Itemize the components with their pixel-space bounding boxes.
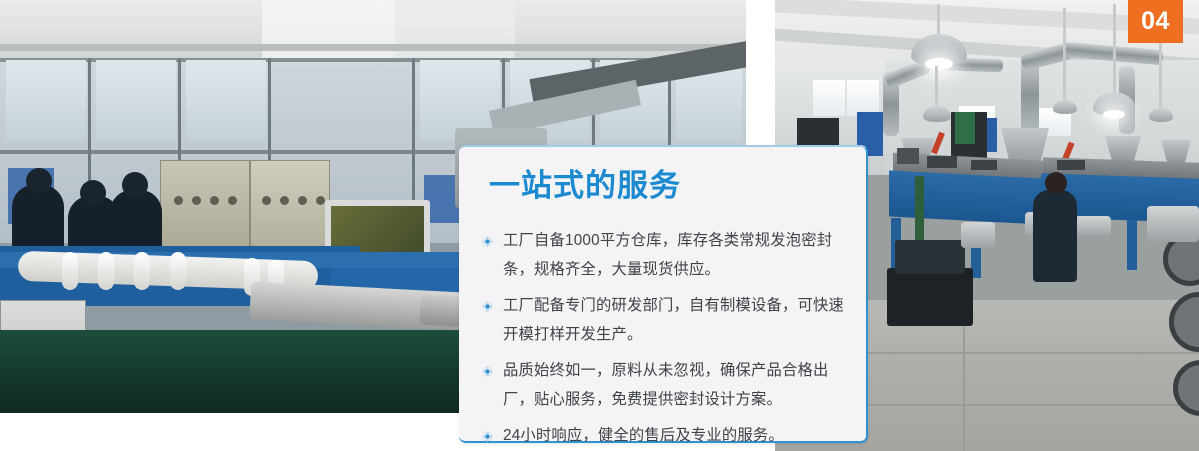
knob (192, 196, 201, 205)
worker-head (26, 168, 52, 194)
pendant-lamp (1093, 92, 1135, 116)
control-cabinet (160, 160, 250, 255)
worker-head (80, 180, 106, 206)
pendant-lamp (911, 34, 967, 66)
metal-box (961, 222, 995, 248)
extraction-hood (901, 138, 935, 164)
wall-panel-2 (395, 0, 515, 120)
blue-door (981, 118, 997, 152)
blue-window (8, 168, 54, 224)
wire-coil (1173, 360, 1199, 416)
knob (316, 196, 325, 205)
glass-pane (96, 60, 176, 140)
doorway (951, 112, 987, 160)
knob (298, 196, 307, 205)
line-part (897, 148, 919, 164)
extraction-hood (1105, 136, 1141, 164)
knob (210, 196, 219, 205)
list-item: 工厂自备1000平方仓库，库存各类常规发泡密封条，规格齐全，大量现货供应。 (481, 226, 853, 284)
card-title: 一站式的服务 (489, 170, 681, 201)
conveyor-leg (971, 222, 981, 278)
line-part (1057, 160, 1085, 170)
list-item: 品质始终如一，原料从未忽视，确保产品合格出厂，贴心服务，免费提供密封设计方案。 (481, 356, 853, 414)
lamp-cord (935, 66, 938, 108)
list-item-text: 工厂自备1000平方仓库，库存各类常规发泡密封条，规格齐全，大量现货供应。 (503, 232, 832, 278)
conveyor-leg (891, 218, 901, 270)
badge-number: 04 (1141, 7, 1170, 36)
ceiling (0, 0, 746, 62)
promo-banner: 04 一站式的服务 工厂自备1000平方仓库，库存各类常规发泡密封条，规格齐全，… (0, 0, 1199, 451)
window (1037, 108, 1071, 136)
extruder-base (0, 246, 360, 306)
diamond-compass-icon (481, 300, 494, 313)
glass-pane (420, 60, 500, 140)
worker (1033, 190, 1077, 282)
extraction-hood (1001, 128, 1049, 170)
window-post (178, 58, 181, 243)
red-marker (1061, 142, 1074, 163)
metal-part (1147, 206, 1199, 242)
control-cabinet-2 (250, 160, 330, 255)
conveyor-top (1043, 157, 1199, 184)
duct-run (1063, 42, 1164, 66)
floor-seam (963, 300, 965, 451)
red-marker (931, 132, 945, 155)
line-part (971, 160, 997, 170)
worker (110, 190, 162, 262)
lamp-glow (1103, 110, 1125, 119)
diamond-compass-icon (481, 430, 494, 443)
glass-pane (510, 60, 590, 140)
glass-pane (600, 60, 670, 140)
lamp-glow (925, 58, 953, 70)
glass-pane (676, 60, 742, 140)
screw-ring (62, 252, 78, 290)
duct-run (923, 57, 1003, 73)
window-mullion-top (0, 58, 746, 62)
screw-barrel (18, 251, 319, 291)
green-panel (955, 112, 975, 144)
conveyor-top (893, 153, 1093, 187)
diamond-compass-icon (481, 365, 494, 378)
window-post (88, 58, 91, 243)
extraction-hood (1161, 140, 1191, 164)
metal-part (1025, 212, 1069, 236)
lamp-cord (937, 4, 940, 38)
list-item: 工厂配备专门的研发部门，自有制模设备，可快速开模打样开发生产。 (481, 291, 853, 349)
control-box (148, 345, 258, 407)
duct-elbow (884, 58, 932, 89)
screw-ring (268, 260, 284, 298)
glass-pane (6, 60, 86, 140)
step-number-badge: 04 (1128, 0, 1183, 43)
wire-coil (1169, 292, 1199, 352)
green-pole (915, 176, 924, 296)
feature-card: 一站式的服务 工厂自备1000平方仓库，库存各类常规发泡密封条，规格齐全，大量现… (459, 145, 868, 443)
list-item-text: 品质始终如一，原料从未忽视，确保产品合格出厂，贴心服务，免费提供密封设计方案。 (503, 362, 828, 408)
window-post (268, 58, 271, 243)
window (813, 80, 845, 116)
glass-pane (186, 60, 266, 140)
worker (68, 196, 120, 268)
screw-ring (170, 252, 186, 290)
conveyor-leg (1127, 220, 1137, 270)
orange-part (55, 352, 71, 386)
worker-head (122, 172, 148, 198)
worker-head (1045, 172, 1067, 194)
window (959, 106, 995, 136)
conveyor-leg (1051, 222, 1061, 276)
feature-list: 工厂自备1000平方仓库，库存各类常规发泡密封条，规格齐全，大量现货供应。 工厂… (481, 226, 853, 451)
dark-duct (529, 41, 746, 105)
lamp-cord (1113, 4, 1116, 94)
floor-cabinet (0, 300, 86, 395)
window (847, 80, 879, 116)
list-item-text: 24小时响应，健全的售后及专业的服务。 (503, 427, 784, 444)
conveyor-body (1041, 173, 1199, 223)
knob (228, 196, 237, 205)
knob (262, 196, 271, 205)
wall-panel (262, 0, 402, 150)
monitor-stand (370, 270, 380, 300)
list-item: 24小时响应，健全的售后及专业的服务。 (481, 421, 853, 450)
diamond-compass-icon (481, 235, 494, 248)
screw-ring (98, 252, 114, 290)
screw-ring (244, 258, 260, 296)
pendant-lamp (1053, 100, 1077, 114)
window-post (412, 58, 415, 243)
control-monitor (325, 200, 430, 270)
metal-part (1075, 216, 1111, 236)
list-item-text: 工厂配备专门的研发部门，自有制模设备，可快速开模打样开发生产。 (503, 297, 844, 343)
pendant-lamp (1149, 108, 1173, 122)
duct-pipe (489, 80, 641, 137)
duct-pipe (1021, 56, 1039, 134)
line-part (927, 156, 957, 168)
screw-ring (134, 252, 150, 290)
duct-elbow (1020, 42, 1075, 71)
duct-pipe (1119, 66, 1135, 134)
duct-pipe (883, 72, 899, 136)
wire-coil (1163, 232, 1199, 286)
knob (280, 196, 289, 205)
pendant-lamp (923, 106, 951, 122)
knob (174, 196, 183, 205)
crate (895, 240, 965, 274)
worker (12, 185, 64, 257)
crate (887, 268, 973, 326)
lamp-cord (1063, 8, 1066, 102)
ceiling-beam (0, 44, 746, 51)
conveyor-body (889, 170, 1099, 227)
